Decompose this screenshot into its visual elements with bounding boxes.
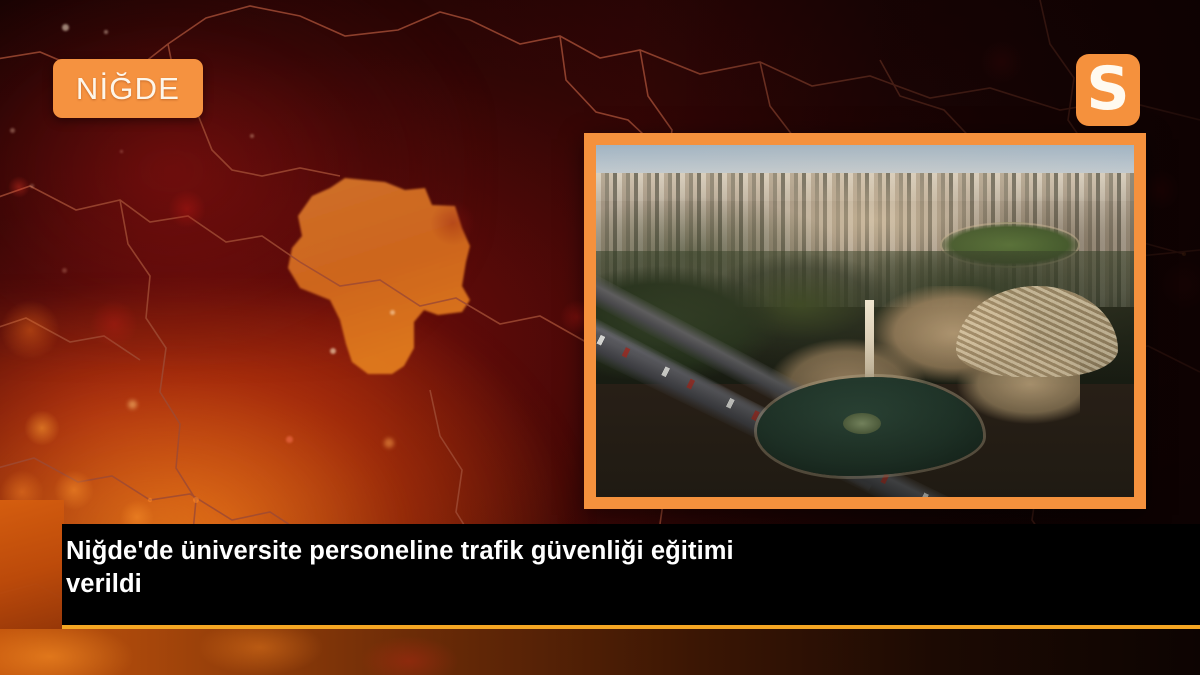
brand-logo-letter: S bbox=[1086, 59, 1129, 119]
photo-color-grade bbox=[596, 145, 1134, 497]
caption-accent-rule bbox=[62, 625, 1200, 629]
news-card: NİĞDE S Niğde'de üniversite personeline … bbox=[0, 0, 1200, 675]
caption-panel: Niğde'de üniversite personeline trafik g… bbox=[62, 524, 1200, 625]
sabah-s-logo[interactable]: S bbox=[1076, 54, 1140, 126]
city-badge-label: NİĞDE bbox=[76, 73, 180, 104]
background-bottom-left-orange bbox=[0, 500, 64, 630]
photo-image bbox=[596, 145, 1134, 497]
headline: Niğde'de üniversite personeline trafik g… bbox=[62, 524, 762, 601]
city-badge[interactable]: NİĞDE bbox=[53, 59, 203, 118]
nigde-aerial-city-photo[interactable] bbox=[584, 133, 1146, 509]
bottom-strip-glow bbox=[0, 629, 620, 675]
